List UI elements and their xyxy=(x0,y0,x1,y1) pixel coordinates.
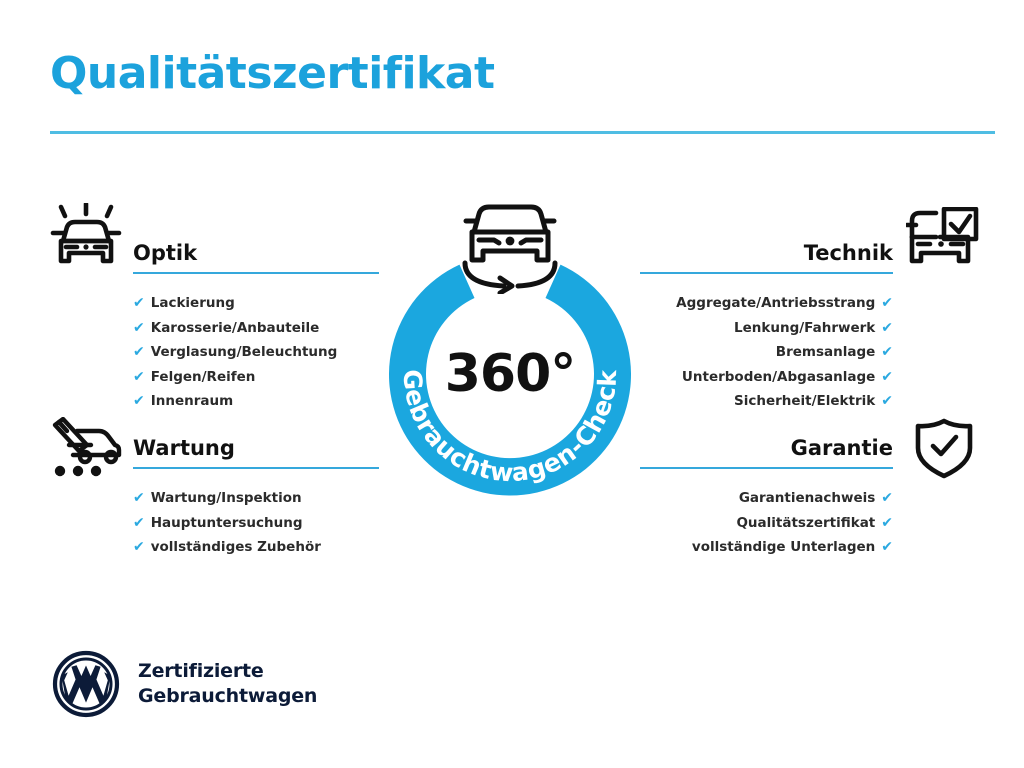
list-item-label: Felgen/Reifen xyxy=(151,365,256,390)
list-item-label: Karosserie/Anbauteile xyxy=(151,316,320,341)
section-garantie-header: Garantie xyxy=(640,433,893,473)
list-item: Garantienachweis✔ xyxy=(640,486,893,511)
list-item: ✔Innenraum xyxy=(133,389,379,414)
section-wartung: Wartung ✔Wartung/Inspektion ✔Hauptunters… xyxy=(133,433,379,560)
list-item: ✔Hauptuntersuchung xyxy=(133,511,379,536)
vw-wordmark: Zertifizierte Gebrauchtwagen xyxy=(138,659,317,709)
section-optik-divider xyxy=(133,272,379,274)
car-front-rotation-icon xyxy=(452,196,568,298)
vw-wordmark-line2: Gebrauchtwagen xyxy=(138,684,317,709)
check-icon: ✔ xyxy=(133,516,145,530)
list-item-label: Verglasung/Beleuchtung xyxy=(151,340,338,365)
check-icon: ✔ xyxy=(133,345,145,359)
check-icon: ✔ xyxy=(133,540,145,554)
list-item-label: Bremsanlage xyxy=(776,340,875,365)
list-item: Bremsanlage✔ xyxy=(640,340,893,365)
list-item-label: Lenkung/Fahrwerk xyxy=(734,316,875,341)
check-icon: ✔ xyxy=(133,321,145,335)
car-checkbox-icon xyxy=(906,207,982,273)
car-shine-icon xyxy=(47,203,125,275)
section-technik: Technik Aggregate/Antriebsstrang✔ Lenkun… xyxy=(640,238,893,414)
list-item: Sicherheit/Elektrik✔ xyxy=(640,389,893,414)
list-item-label: Garantienachweis xyxy=(739,486,875,511)
badge-center-label: 360° xyxy=(374,344,646,404)
section-technik-list: Aggregate/Antriebsstrang✔ Lenkung/Fahrwe… xyxy=(640,291,893,414)
title-divider xyxy=(50,131,995,134)
list-item: Qualitätszertifikat✔ xyxy=(640,511,893,536)
car-service-pencil-icon xyxy=(47,417,125,483)
list-item: Lenkung/Fahrwerk✔ xyxy=(640,316,893,341)
section-technik-title: Technik xyxy=(640,238,893,268)
badge-360-gebrauchtwagen-check: Gebrauchtwagen-Check 360° xyxy=(374,196,646,496)
section-garantie-divider xyxy=(640,467,893,469)
check-icon: ✔ xyxy=(881,345,893,359)
list-item-label: Unterboden/Abgasanlage xyxy=(682,365,875,390)
section-garantie: Garantie Garantienachweis✔ Qualitätszert… xyxy=(640,433,893,560)
list-item: ✔Lackierung xyxy=(133,291,379,316)
list-item-label: vollständige Unterlagen xyxy=(692,535,875,560)
list-item-label: Lackierung xyxy=(151,291,235,316)
check-icon: ✔ xyxy=(133,491,145,505)
check-icon: ✔ xyxy=(133,296,145,310)
list-item: ✔Wartung/Inspektion xyxy=(133,486,379,511)
section-garantie-list: Garantienachweis✔ Qualitätszertifikat✔ v… xyxy=(640,486,893,560)
vw-certified-lockup: Zertifizierte Gebrauchtwagen xyxy=(52,650,317,718)
section-technik-divider xyxy=(640,272,893,274)
list-item: ✔Karosserie/Anbauteile xyxy=(133,316,379,341)
check-icon: ✔ xyxy=(881,296,893,310)
check-icon: ✔ xyxy=(881,370,893,384)
check-icon: ✔ xyxy=(133,370,145,384)
list-item-label: Qualitätszertifikat xyxy=(736,511,875,536)
list-item: ✔vollständiges Zubehör xyxy=(133,535,379,560)
section-wartung-title: Wartung xyxy=(133,433,379,463)
list-item: ✔Verglasung/Beleuchtung xyxy=(133,340,379,365)
vw-wordmark-line1: Zertifizierte xyxy=(138,659,317,684)
section-optik: Optik ✔Lackierung ✔Karosserie/Anbauteile… xyxy=(133,238,379,414)
list-item-label: Aggregate/Antriebsstrang xyxy=(676,291,875,316)
check-icon: ✔ xyxy=(881,540,893,554)
section-technik-header: Technik xyxy=(640,238,893,278)
list-item: ✔Felgen/Reifen xyxy=(133,365,379,390)
list-item: Unterboden/Abgasanlage✔ xyxy=(640,365,893,390)
vw-logo xyxy=(52,650,120,718)
page-title: Qualitätszertifikat xyxy=(50,50,495,98)
check-icon: ✔ xyxy=(881,394,893,408)
section-wartung-divider xyxy=(133,467,379,469)
list-item-label: Hauptuntersuchung xyxy=(151,511,303,536)
check-icon: ✔ xyxy=(881,491,893,505)
list-item-label: vollständiges Zubehör xyxy=(151,535,321,560)
section-optik-header: Optik xyxy=(133,238,379,278)
section-garantie-title: Garantie xyxy=(640,433,893,463)
check-icon: ✔ xyxy=(881,516,893,530)
shield-check-icon xyxy=(913,418,975,484)
list-item: vollständige Unterlagen✔ xyxy=(640,535,893,560)
section-wartung-header: Wartung xyxy=(133,433,379,473)
list-item: Aggregate/Antriebsstrang✔ xyxy=(640,291,893,316)
section-optik-title: Optik xyxy=(133,238,379,268)
section-wartung-list: ✔Wartung/Inspektion ✔Hauptuntersuchung ✔… xyxy=(133,486,379,560)
list-item-label: Sicherheit/Elektrik xyxy=(734,389,875,414)
list-item-label: Wartung/Inspektion xyxy=(151,486,302,511)
check-icon: ✔ xyxy=(133,394,145,408)
section-optik-list: ✔Lackierung ✔Karosserie/Anbauteile ✔Verg… xyxy=(133,291,379,414)
check-icon: ✔ xyxy=(881,321,893,335)
list-item-label: Innenraum xyxy=(151,389,233,414)
